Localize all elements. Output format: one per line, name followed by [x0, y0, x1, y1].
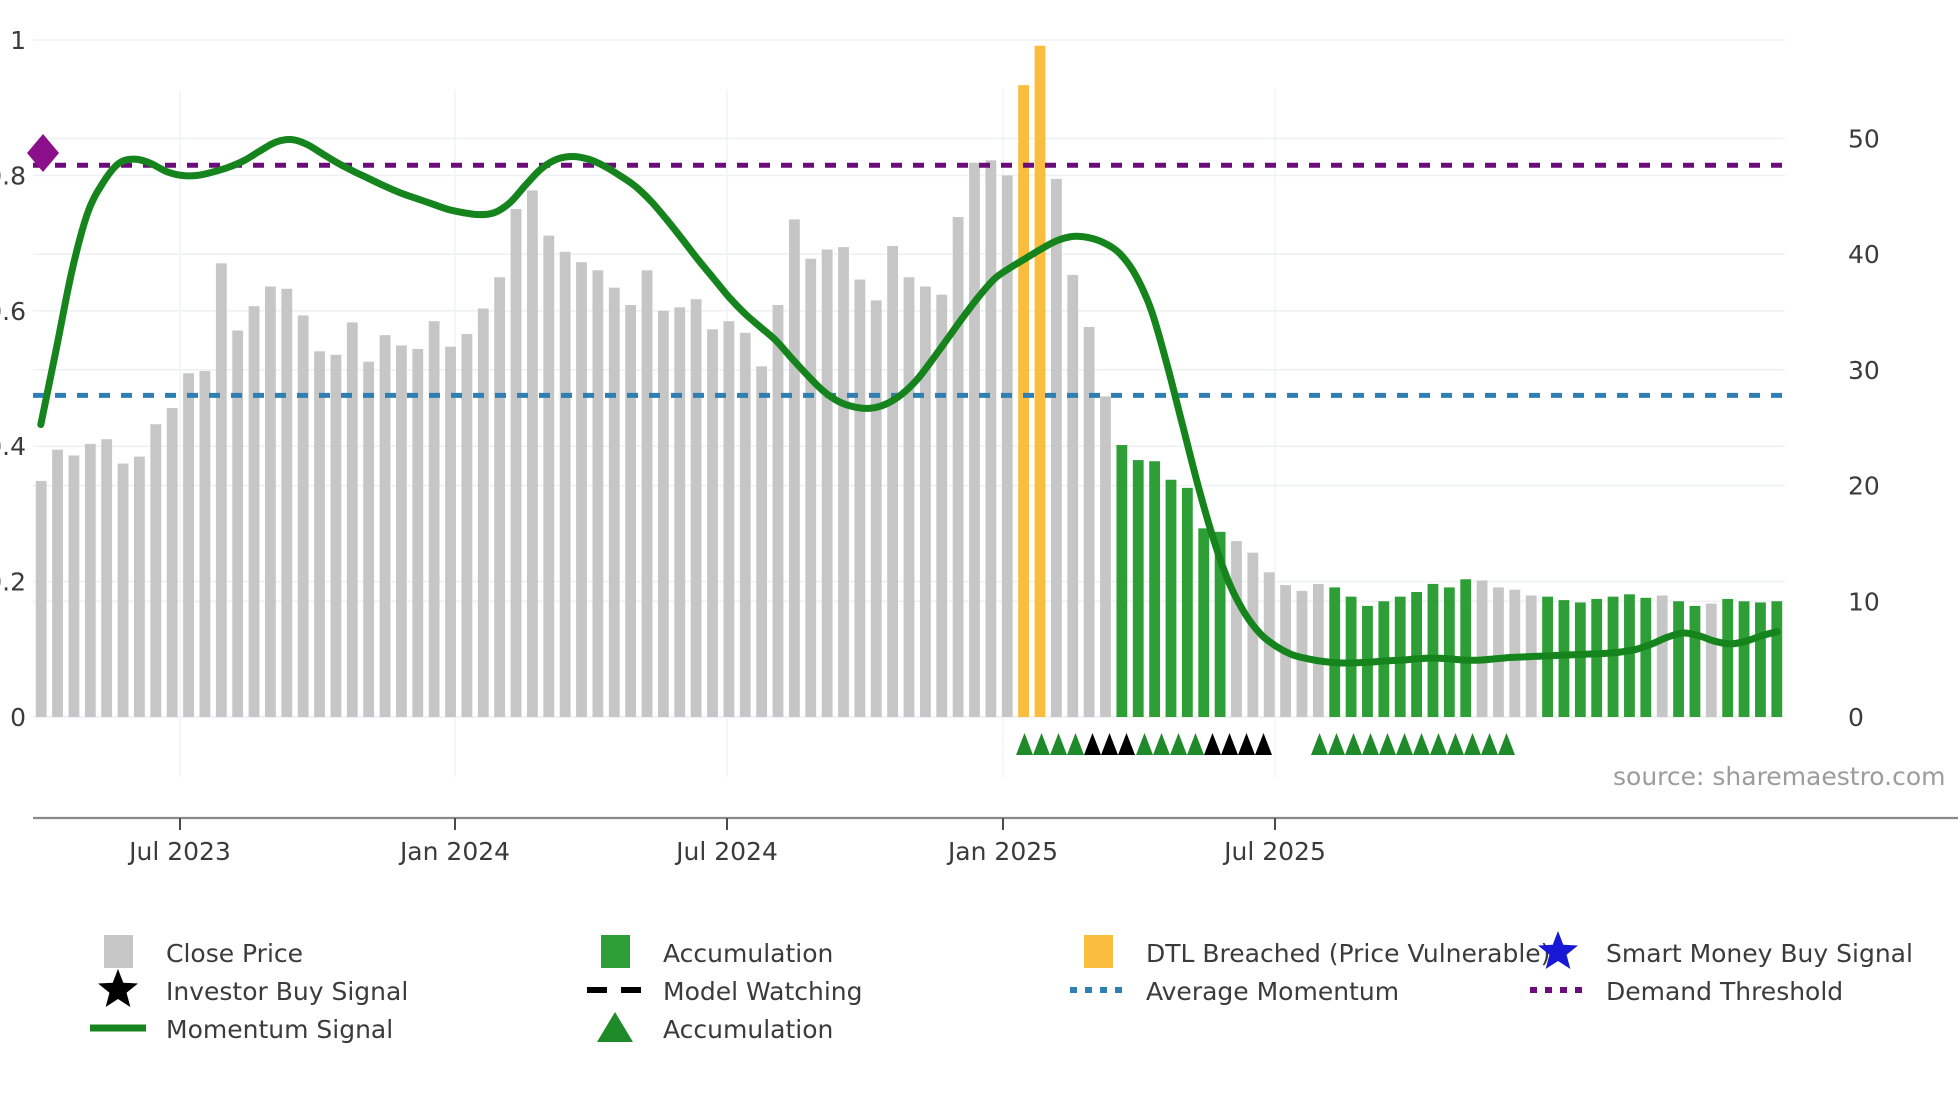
financial-momentum-chart: 00.20.40.60.81 01020304050 Jul 2023Jan 2…	[0, 0, 1960, 1102]
demand-threshold-marker	[27, 134, 59, 172]
accumulation-bar	[1690, 606, 1701, 717]
accumulation-triangle-icon	[1413, 733, 1430, 755]
close-price-bar	[183, 373, 194, 717]
close-price-bar	[478, 308, 489, 717]
legend-label-demand-threshold: Demand Threshold	[1606, 977, 1843, 1006]
accumulation-bar	[1133, 460, 1144, 717]
accumulation-bar	[1182, 488, 1193, 717]
right-axis-tick-label: 20	[1848, 472, 1880, 501]
close-price-bar	[1657, 595, 1668, 717]
legend-item-average-momentum[interactable]: Average Momentum	[1070, 977, 1399, 1006]
accumulation-triangle-triangle-icon	[597, 1012, 633, 1042]
right-axis-tick-label: 0	[1848, 703, 1864, 732]
close-price-bar	[511, 209, 522, 717]
accumulation-bar-swatch-icon	[601, 935, 630, 968]
legend-label-accumulation-bar: Accumulation	[663, 939, 833, 968]
accumulation-triangle-icon	[1153, 733, 1170, 755]
accumulation-bar	[1739, 601, 1750, 717]
close-price-bar	[118, 464, 129, 717]
close-price-bar	[1493, 587, 1504, 717]
close-price-bar	[773, 305, 784, 717]
accumulation-triangle-icon	[1050, 733, 1067, 755]
close-price-bar	[985, 160, 996, 717]
close-price-bar	[314, 351, 325, 717]
accumulation-triangle-icon	[1136, 733, 1153, 755]
accumulation-bar	[1411, 592, 1422, 717]
close-price-bar	[576, 262, 587, 717]
model-watching-triangle-icon	[1221, 733, 1238, 755]
accumulation-triangle-icon	[1481, 733, 1498, 755]
accumulation-triangle-icon	[1067, 733, 1084, 755]
legend-item-dtl-breached[interactable]: DTL Breached (Price Vulnerable)	[1084, 935, 1550, 968]
left-axis-tick-label: 0.8	[0, 161, 26, 190]
x-axis-tick-label: Jul 2025	[1222, 837, 1326, 866]
close-price-bar	[953, 217, 964, 717]
legend-item-accumulation-bar[interactable]: Accumulation	[601, 935, 833, 968]
close-price-bar	[625, 305, 636, 717]
close-price-bar	[1084, 327, 1095, 717]
accumulation-bar	[1346, 597, 1357, 717]
close-price-bar	[52, 450, 63, 717]
close-price-bar	[1067, 275, 1078, 717]
accumulation-bar	[1198, 528, 1209, 717]
close-price-bar	[363, 362, 374, 717]
legend-item-demand-threshold[interactable]: Demand Threshold	[1530, 977, 1843, 1006]
close-price-bar	[167, 408, 178, 717]
accumulation-triangle-icon	[1345, 733, 1362, 755]
model-watching-triangle-icon	[1118, 733, 1135, 755]
investor-buy-signal-star-icon	[98, 969, 138, 1007]
legend-label-momentum-signal: Momentum Signal	[166, 1015, 393, 1044]
legend-label-dtl-breached: DTL Breached (Price Vulnerable)	[1146, 939, 1550, 968]
close-price-bar	[609, 288, 620, 717]
close-price-bar	[592, 270, 603, 717]
right-axis-tick-label: 50	[1848, 124, 1880, 153]
x-axis-ticklabels: Jul 2023Jan 2024Jul 2024Jan 2025Jul 2025	[127, 837, 1326, 866]
close-price-bar	[36, 481, 47, 717]
close-price-bar	[871, 300, 882, 717]
close-price-bar	[265, 286, 276, 717]
close-price-bar	[723, 321, 734, 717]
x-axis-tick-label: Jan 2025	[946, 837, 1058, 866]
close-price-bar	[642, 270, 653, 717]
accumulation-triangle-icon	[1033, 733, 1050, 755]
accumulation-triangle-icon	[1498, 733, 1515, 755]
close-price-bar	[347, 322, 358, 717]
accumulation-triangle-icon	[1430, 733, 1447, 755]
purple-diamond-marker	[27, 134, 59, 172]
close-price-bar	[560, 252, 571, 717]
close-price-bar	[838, 247, 849, 717]
close-price-bar	[1477, 580, 1488, 717]
close-price-bar	[216, 263, 227, 717]
close-price-bar	[1509, 590, 1520, 717]
accumulation-bar	[1116, 445, 1127, 717]
close-price-bar	[150, 424, 161, 717]
close-price-bar	[543, 236, 554, 717]
accumulation-bar	[1329, 587, 1340, 717]
close-price-bar	[969, 163, 980, 717]
close-price-bar	[527, 190, 538, 717]
close-price-bar	[69, 455, 80, 717]
close-price-bar	[691, 299, 702, 717]
right-axis-tick-label: 30	[1848, 356, 1880, 385]
accumulation-triangle-icon	[1396, 733, 1413, 755]
accumulation-triangle-icon	[1362, 733, 1379, 755]
legend-item-close-price[interactable]: Close Price	[104, 935, 303, 968]
close-price-bar	[756, 366, 767, 717]
accumulation-triangle-icon	[1016, 733, 1033, 755]
right-axis-tick-label: 10	[1848, 587, 1880, 616]
close-price-bar	[494, 277, 505, 717]
accumulation-bar	[1444, 587, 1455, 717]
legend-item-momentum-signal[interactable]: Momentum Signal	[90, 1015, 393, 1044]
close-price-bar	[232, 330, 243, 717]
dtl-breached-swatch-icon	[1084, 935, 1113, 968]
legend-label-model-watching: Model Watching	[663, 977, 863, 1006]
legend-item-model-watching[interactable]: Model Watching	[587, 977, 863, 1006]
model-watching-triangle-icon	[1255, 733, 1272, 755]
accumulation-triangle-icon	[1379, 733, 1396, 755]
x-axis-tick-label: Jul 2023	[127, 837, 231, 866]
close-price-bar	[789, 219, 800, 717]
model-watching-triangle-icon	[1084, 733, 1101, 755]
accumulation-bar	[1149, 461, 1160, 717]
accumulation-triangle-icon	[1187, 733, 1204, 755]
close-price-bar	[429, 321, 440, 717]
left-axis-tick-label: 0.2	[0, 568, 26, 597]
close-price-bar	[249, 306, 260, 717]
right-axis-ticklabels: 01020304050	[1848, 124, 1880, 732]
model-watching-triangle-icon	[1101, 733, 1118, 755]
accumulation-bar	[1673, 601, 1684, 717]
accumulation-bar	[1591, 599, 1602, 717]
close-price-bar	[1231, 541, 1242, 717]
close-price-bar	[85, 444, 96, 717]
left-axis-tick-label: 0.6	[0, 297, 26, 326]
accumulation-triangles-group-1	[1016, 733, 1135, 755]
accumulation-bar	[1575, 602, 1586, 717]
close-price-bar	[887, 246, 898, 717]
x-axis-tick-label: Jul 2024	[674, 837, 778, 866]
close-price-bar	[1002, 175, 1013, 717]
close-price-bar	[740, 333, 751, 717]
accumulation-triangle-icon	[1464, 733, 1481, 755]
chart-container: 00.20.40.60.81 01020304050 Jul 2023Jan 2…	[0, 0, 1960, 1102]
accumulation-triangles-group-2	[1136, 733, 1272, 755]
accumulation-triangle-icon	[1170, 733, 1187, 755]
accumulation-triangle-icon	[1447, 733, 1464, 755]
close-price-bar	[380, 335, 391, 717]
close-price-bar	[920, 286, 931, 717]
accumulation-bar	[1640, 598, 1651, 717]
legend-label-smart-money-buy-signal: Smart Money Buy Signal	[1606, 939, 1913, 968]
close-price-bar	[462, 334, 473, 717]
close-price-bar	[904, 277, 915, 717]
close-price-bar	[298, 315, 309, 717]
source-watermark: source: sharemaestro.com	[1613, 762, 1946, 791]
close-price-bar	[331, 355, 342, 717]
close-price-bar	[674, 307, 685, 717]
legend-label-accumulation-triangle: Accumulation	[663, 1015, 833, 1044]
accumulation-bar	[1608, 597, 1619, 717]
close-price-bar	[200, 371, 211, 717]
accumulation-bar	[1771, 601, 1782, 717]
accumulation-triangles-group-3	[1311, 733, 1515, 755]
close-price-bar	[445, 347, 456, 717]
close-price-swatch-icon	[104, 935, 133, 968]
dtl-breached-bar	[1018, 85, 1029, 717]
legend-item-smart-money-buy-signal[interactable]: Smart Money Buy Signal	[1538, 931, 1913, 969]
close-price-bar	[658, 311, 669, 717]
close-price-bar	[707, 329, 718, 717]
accumulation-bar	[1624, 594, 1635, 717]
legend-label-investor-buy-signal: Investor Buy Signal	[166, 977, 408, 1006]
axes	[33, 818, 1958, 830]
close-price-bar	[281, 289, 292, 717]
dtl-breached-bar	[1035, 46, 1046, 717]
close-price-bar	[101, 439, 112, 717]
close-price-bar	[412, 349, 423, 717]
right-axis-tick-label: 40	[1848, 240, 1880, 269]
accumulation-bar	[1755, 602, 1766, 717]
legend-item-accumulation-triangle[interactable]: Accumulation	[597, 1012, 833, 1044]
accumulation-bar	[1460, 579, 1471, 717]
accumulation-bar	[1722, 599, 1733, 717]
left-axis-tick-label: 0.4	[0, 432, 26, 461]
close-price-bar	[805, 259, 816, 717]
left-axis-tick-label: 1	[10, 26, 26, 55]
close-price-bar	[1051, 179, 1062, 717]
signal-markers	[1016, 733, 1515, 755]
close-price-bar	[1313, 584, 1324, 717]
accumulation-triangle-icon	[1311, 733, 1328, 755]
close-price-bar	[822, 249, 833, 717]
close-price-bar	[1100, 396, 1111, 717]
accumulation-triangle-icon	[1328, 733, 1345, 755]
legend-label-average-momentum: Average Momentum	[1146, 977, 1399, 1006]
close-price-bar	[854, 280, 865, 717]
price-bars	[36, 46, 1782, 717]
left-axis-tick-label: 0	[10, 703, 26, 732]
x-axis-tick-label: Jan 2024	[398, 837, 510, 866]
close-price-bar	[1706, 604, 1717, 717]
legend-item-investor-buy-signal[interactable]: Investor Buy Signal	[98, 969, 408, 1007]
legend-label-close-price: Close Price	[166, 939, 303, 968]
accumulation-bar	[1166, 480, 1177, 717]
left-axis-ticklabels: 00.20.40.60.81	[0, 26, 26, 732]
model-watching-triangle-icon	[1204, 733, 1221, 755]
chart-legend: Close PriceAccumulationDTL Breached (Pri…	[90, 931, 1913, 1044]
model-watching-triangle-icon	[1238, 733, 1255, 755]
close-price-bar	[396, 346, 407, 717]
accumulation-bar	[1428, 584, 1439, 717]
close-price-bar	[134, 457, 145, 717]
